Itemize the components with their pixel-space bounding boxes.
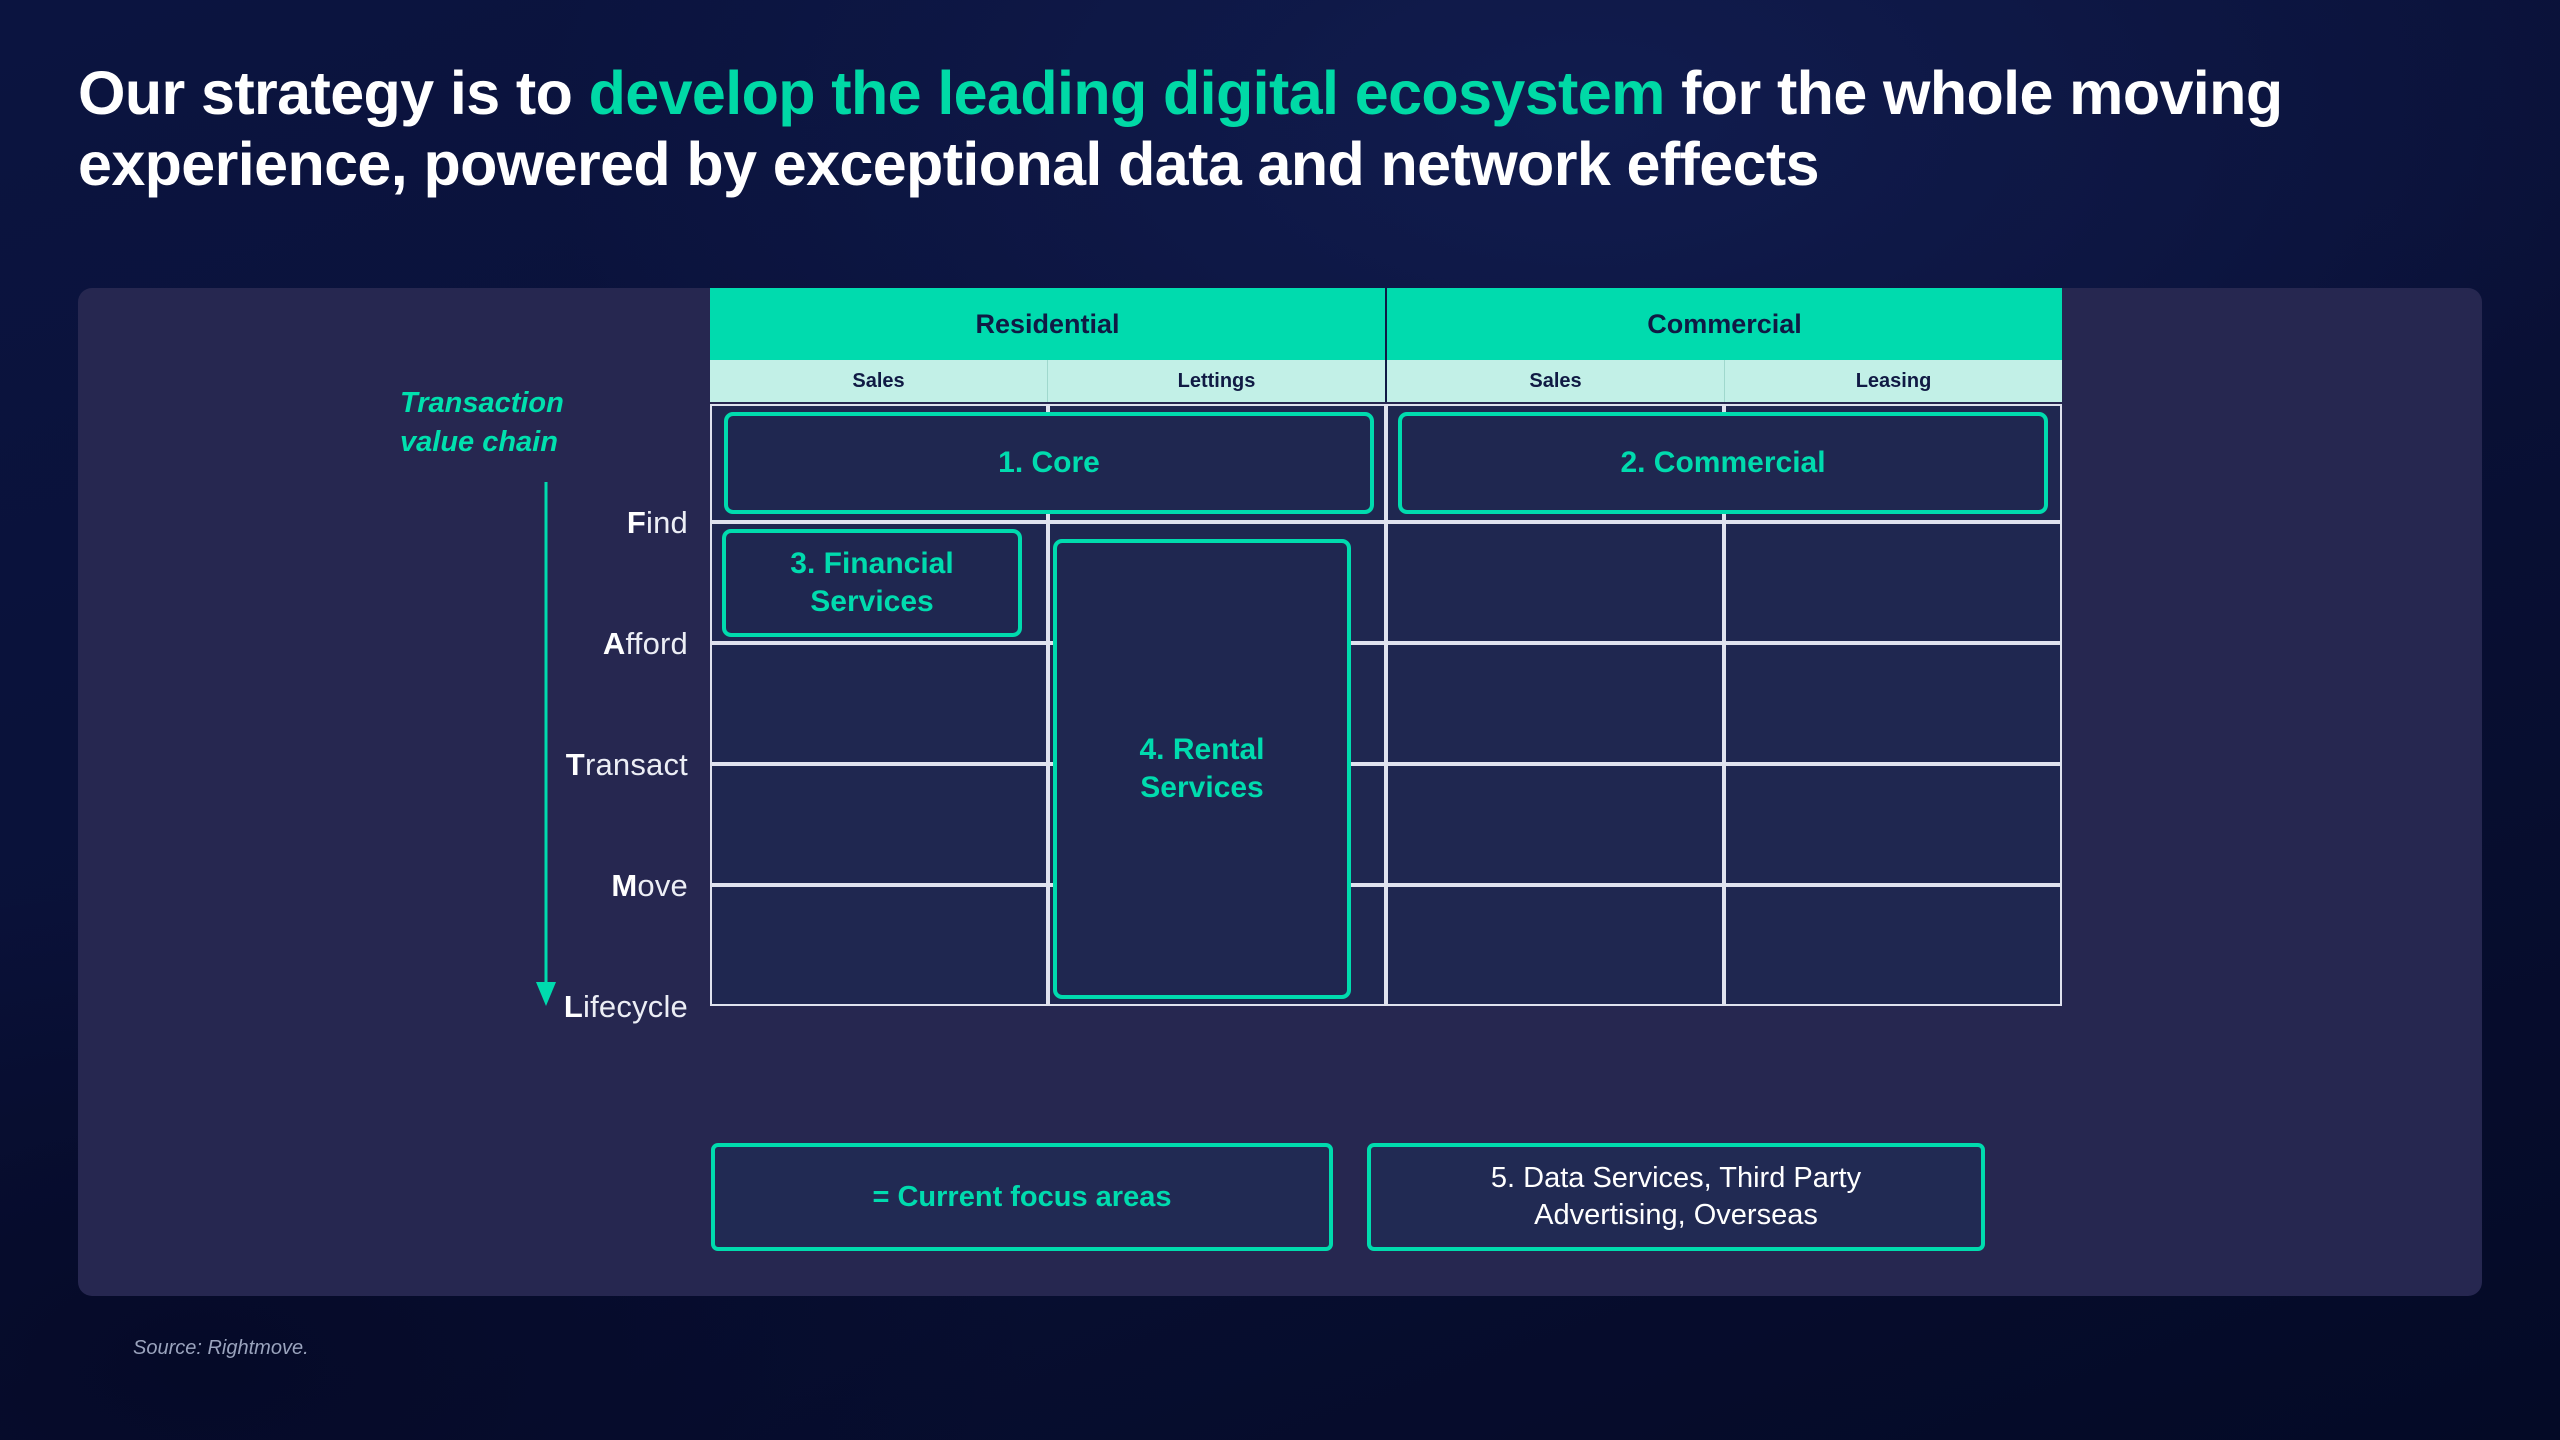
row-label-move-rest: ove: [637, 868, 688, 903]
table-subheader-row: Sales Lettings Sales Leasing: [710, 360, 2062, 402]
row-label-find-rest: ind: [646, 505, 688, 540]
column-header-residential-lettings: Lettings: [1047, 360, 1385, 402]
group-header-commercial: Commercial: [1385, 288, 2062, 360]
headline-accent: develop the leading digital ecosystem: [589, 59, 1665, 127]
column-header-commercial-sales: Sales: [1385, 360, 1724, 402]
cell-afford-commercial-sales[interactable]: [1386, 522, 1724, 643]
row-label-move-initial: M: [611, 868, 637, 903]
cell-lifecycle-commercial-leasing[interactable]: [1724, 885, 2062, 1006]
row-label-lifecycle-rest: ifecycle: [583, 989, 688, 1024]
headline-part1: Our strategy is to: [78, 59, 589, 127]
row-label-transact: Transact: [408, 747, 688, 783]
table-group-header-row: Residential Commercial: [710, 288, 2062, 360]
column-header-commercial-leasing: Leasing: [1724, 360, 2062, 402]
row-label-afford: Afford: [408, 626, 688, 662]
row-label-move: Move: [408, 868, 688, 904]
row-labels: Find Afford Transact Move Lifecycle: [408, 288, 688, 1296]
cell-move-commercial-sales[interactable]: [1386, 764, 1724, 885]
strategy-matrix-panel: Property market segments Transaction val…: [78, 288, 2482, 1296]
focus-area-commercial[interactable]: 2. Commercial: [1398, 412, 2048, 514]
row-label-transact-initial: T: [566, 747, 585, 782]
source-note: Source: Rightmove.: [133, 1337, 309, 1360]
cell-transact-commercial-sales[interactable]: [1386, 643, 1724, 764]
legend-data-services[interactable]: 5. Data Services, Third Party Advertisin…: [1367, 1143, 1985, 1251]
row-label-afford-rest: fford: [626, 626, 688, 661]
cell-transact-commercial-leasing[interactable]: [1724, 643, 2062, 764]
row-label-lifecycle-initial: L: [564, 989, 583, 1024]
cell-transact-residential-sales[interactable]: [710, 643, 1048, 764]
cell-move-residential-sales[interactable]: [710, 764, 1048, 885]
group-header-residential: Residential: [710, 288, 1385, 360]
cell-afford-commercial-leasing[interactable]: [1724, 522, 2062, 643]
legend-current-focus-areas[interactable]: = Current focus areas: [711, 1143, 1333, 1251]
focus-area-financial-services[interactable]: 3. Financial Services: [722, 529, 1022, 637]
focus-area-rental-services[interactable]: 4. Rental Services: [1053, 539, 1351, 999]
row-label-find: Find: [408, 505, 688, 541]
row-label-lifecycle: Lifecycle: [408, 989, 688, 1025]
matrix-grid: 1. Core 2. Commercial 3. Financial Servi…: [710, 404, 2062, 994]
cell-lifecycle-commercial-sales[interactable]: [1386, 885, 1724, 1006]
row-label-afford-initial: A: [603, 626, 626, 661]
focus-area-core[interactable]: 1. Core: [724, 412, 1374, 514]
cell-move-commercial-leasing[interactable]: [1724, 764, 2062, 885]
row-label-find-initial: F: [627, 505, 646, 540]
row-label-transact-rest: ransact: [585, 747, 688, 782]
cell-lifecycle-residential-sales[interactable]: [710, 885, 1048, 1006]
page-title: Our strategy is to develop the leading d…: [78, 58, 2478, 200]
matrix-table: Residential Commercial Sales Lettings Sa…: [710, 288, 2062, 994]
column-header-residential-sales: Sales: [710, 360, 1047, 402]
